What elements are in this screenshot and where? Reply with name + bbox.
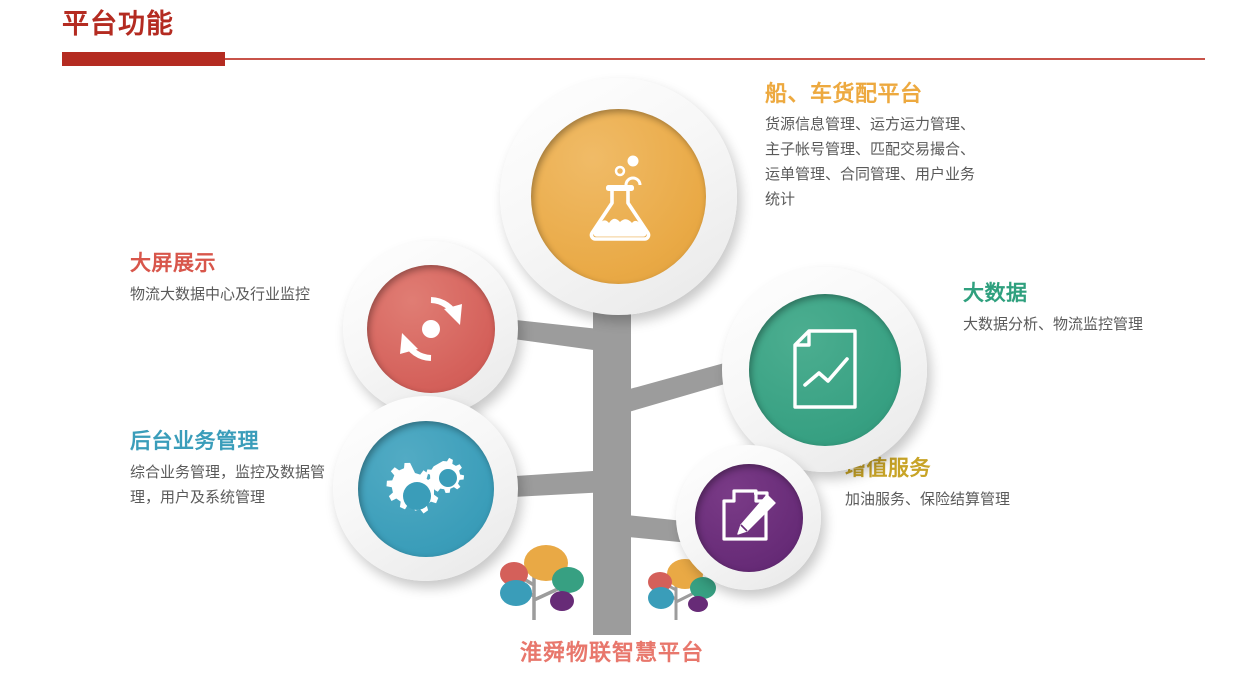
label-platform-body: 货源信息管理、运方运力管理、主子帐号管理、匹配交易撮合、运单管理、合同管理、用户…: [765, 112, 987, 212]
node-display[interactable]: [343, 241, 518, 416]
node-display-inner: [367, 265, 495, 393]
node-backend-inner: [358, 421, 494, 557]
node-valueadded-inner: [695, 464, 803, 572]
label-bigdata-body: 大数据分析、物流监控管理: [963, 312, 1163, 337]
node-platform-inner: [531, 109, 706, 284]
tree-trunk: [593, 280, 631, 635]
node-platform[interactable]: [500, 78, 737, 315]
node-valueadded[interactable]: [676, 445, 821, 590]
label-bigdata: 大数据 大数据分析、物流监控管理: [963, 280, 1163, 337]
page-title: 平台功能: [62, 6, 174, 42]
gears-icon: [384, 451, 468, 527]
label-backend-title: 后台业务管理: [130, 428, 335, 456]
label-backend: 后台业务管理 综合业务管理，监控及数据管理，用户及系统管理: [130, 428, 335, 510]
label-valueadded-body: 加油服务、保险结算管理: [845, 487, 1060, 512]
node-backend[interactable]: [333, 396, 518, 581]
label-bigdata-title: 大数据: [963, 280, 1163, 308]
title-divider: [62, 52, 1205, 66]
node-bigdata-inner: [749, 294, 901, 446]
diagram-caption: 淮舜物联智慧平台: [452, 635, 772, 667]
label-display: 大屏展示 物流大数据中心及行业监控: [130, 250, 330, 307]
sapling-left: [500, 545, 584, 620]
label-display-body: 物流大数据中心及行业监控: [130, 282, 330, 307]
refresh-cycle-icon: [392, 290, 470, 368]
divider-thick-bar: [62, 52, 225, 66]
label-valueadded: 增值服务 加油服务、保险结算管理: [845, 455, 1060, 512]
label-platform-title: 船、车货配平台: [765, 80, 987, 108]
label-display-title: 大屏展示: [130, 250, 330, 278]
label-platform: 船、车货配平台 货源信息管理、运方运力管理、主子帐号管理、匹配交易撮合、运单管理…: [765, 80, 987, 212]
flask-icon: [576, 147, 662, 247]
divider-thin-line: [225, 58, 1205, 60]
document-chart-icon: [785, 327, 865, 413]
node-bigdata[interactable]: [722, 267, 927, 472]
label-valueadded-title: 增值服务: [845, 455, 1060, 483]
document-edit-icon: [718, 487, 780, 549]
label-backend-body: 综合业务管理，监控及数据管理，用户及系统管理: [130, 460, 335, 510]
